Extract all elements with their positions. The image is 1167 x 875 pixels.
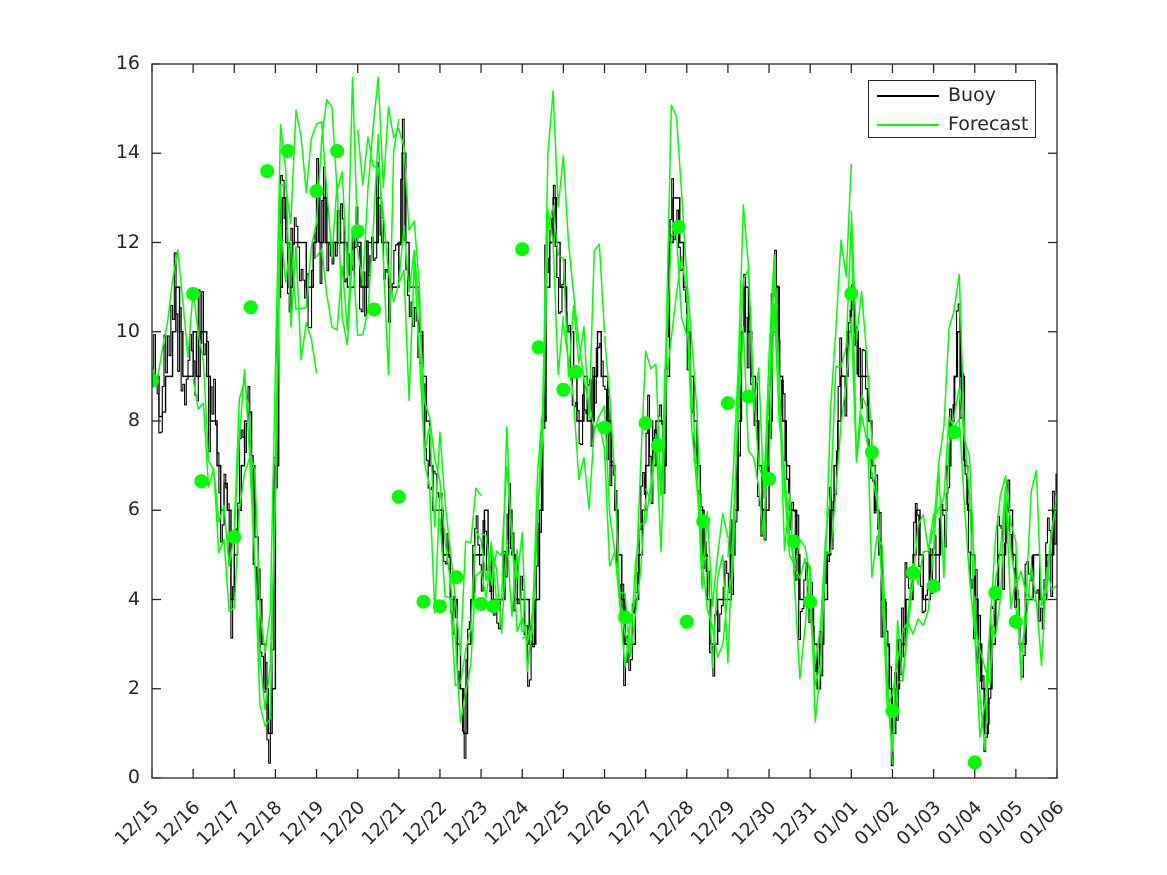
forecast-init-marker (195, 475, 208, 488)
forecast-init-marker (927, 580, 940, 593)
legend-item-forecast: Forecast (869, 110, 1035, 139)
forecast-init-marker (475, 597, 488, 610)
forecast-init-marker (639, 417, 652, 430)
legend-label-buoy: Buoy (948, 86, 996, 105)
forecast-init-marker (261, 165, 274, 178)
y-tick-label: 14 (80, 141, 140, 163)
y-tick-label: 10 (80, 320, 140, 342)
y-tick-label: 2 (80, 677, 140, 699)
forecast-init-marker (721, 397, 734, 410)
y-tick-label: 6 (80, 498, 140, 520)
forecast-init-marker (516, 243, 529, 256)
forecast-init-marker (804, 595, 817, 608)
forecast-init-marker (672, 220, 685, 233)
forecast-init-marker (487, 600, 500, 613)
forecast-init-marker (680, 615, 693, 628)
forecast-init-marker (886, 705, 899, 718)
forecast-init-marker (351, 225, 364, 238)
y-tick-label: 0 (80, 766, 140, 788)
forecast-init-marker (228, 531, 241, 544)
legend-swatch-buoy (877, 95, 939, 97)
forecast-init-marker (450, 571, 463, 584)
forecast-init-marker (598, 421, 611, 434)
forecast-init-marker (331, 145, 344, 158)
forecast-init-marker (310, 185, 323, 198)
forecast-init-marker (417, 595, 430, 608)
chart-page: NDBC 46069 vs GFS Winds: 0 to 3 day fore… (0, 0, 1167, 875)
forecast-init-marker (569, 365, 582, 378)
forecast-init-marker (907, 566, 920, 579)
forecast-init-marker (1009, 615, 1022, 628)
legend-swatch-forecast (877, 124, 939, 126)
forecast-init-marker (865, 446, 878, 459)
legend-item-buoy: Buoy (869, 81, 1035, 110)
forecast-init-marker (948, 426, 961, 439)
forecast-init-marker (787, 535, 800, 548)
forecast-init-marker (763, 473, 776, 486)
forecast-init-marker (968, 756, 981, 769)
forecast-init-marker (187, 287, 200, 300)
forecast-init-marker (532, 341, 545, 354)
legend-label-forecast: Forecast (948, 115, 1028, 134)
legend: Buoy Forecast (868, 80, 1036, 138)
forecast-init-marker (742, 390, 755, 403)
forecast-init-marker (392, 490, 405, 503)
forecast-init-marker (697, 515, 710, 528)
forecast-init-marker (244, 301, 257, 314)
forecast-init-marker (845, 287, 858, 300)
y-tick-label: 12 (80, 231, 140, 253)
y-tick-label: 8 (80, 409, 140, 431)
forecast-init-marker (281, 145, 294, 158)
forecast-init-marker (651, 439, 664, 452)
forecast-init-marker (989, 586, 1002, 599)
forecast-init-marker (619, 611, 632, 624)
y-tick-label: 16 (80, 52, 140, 74)
forecast-init-marker (368, 303, 381, 316)
forecast-init-marker (557, 383, 570, 396)
forecast-init-marker (433, 600, 446, 613)
y-tick-label: 4 (80, 588, 140, 610)
